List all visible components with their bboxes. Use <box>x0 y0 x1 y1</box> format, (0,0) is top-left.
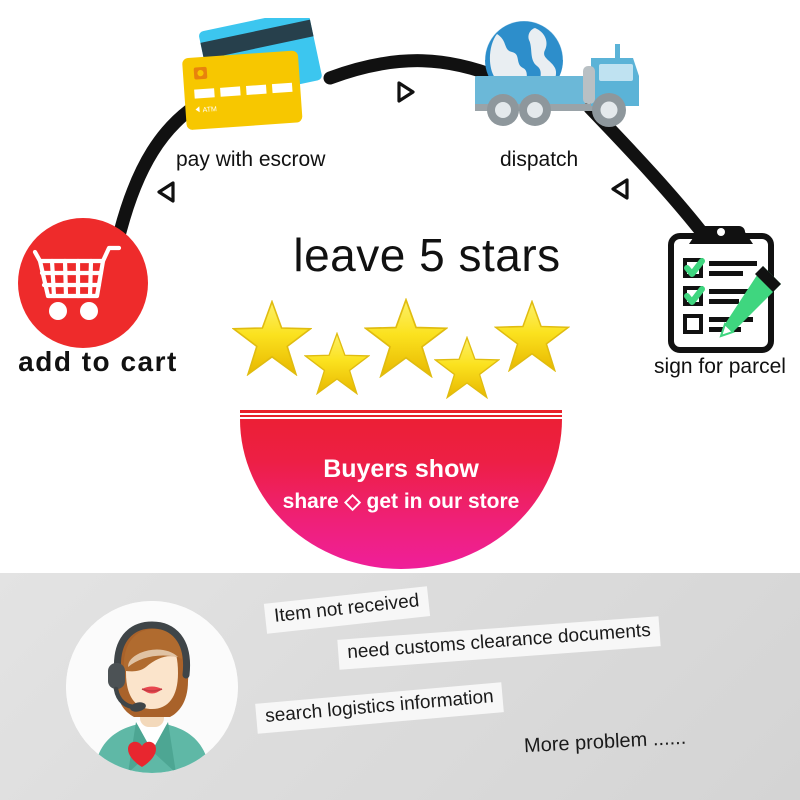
step-sign-for-parcel[interactable] <box>663 222 783 354</box>
step-label-sign-for-parcel: sign for parcel <box>630 355 800 379</box>
star-icon <box>366 300 447 376</box>
star-icon <box>234 302 311 375</box>
star-icon <box>435 337 498 397</box>
problem-tag: Item not received <box>264 586 430 634</box>
triangle-arrow-icon <box>613 180 627 198</box>
banner-accent-line-secondary <box>240 415 562 417</box>
customer-support-section: Item not received need customs clearance… <box>0 573 800 800</box>
problem-tag-more: More problem ...... <box>514 723 696 763</box>
step-label-add-to-cart: add to cart <box>0 346 204 378</box>
step-dispatch[interactable] <box>463 14 653 142</box>
buyers-show-banner: Buyers show share ◇ get in our store <box>240 407 562 569</box>
rating-headline: leave 5 stars <box>262 232 592 278</box>
step-add-to-cart[interactable] <box>18 218 148 348</box>
star-rating-row <box>228 296 572 406</box>
step-label-pay-with-escrow: pay with escrow <box>176 148 325 172</box>
banner-accent-line <box>240 410 562 413</box>
shopping-cart-icon <box>18 218 148 348</box>
triangle-arrow-icon <box>159 183 173 201</box>
clipboard-checklist-pen-icon <box>663 222 783 354</box>
delivery-truck-globe-icon <box>463 14 653 142</box>
order-process-flow: add to cart <box>0 0 800 573</box>
star-icon <box>305 333 368 393</box>
customer-service-agent-avatar <box>66 601 238 773</box>
step-label-dispatch: dispatch <box>500 148 578 172</box>
banner-subtitle: share ◇ get in our store <box>240 489 562 514</box>
banner-title: Buyers show <box>240 455 562 484</box>
step-pay-with-escrow[interactable]: ATM <box>176 18 346 136</box>
triangle-arrow-icon <box>399 83 413 101</box>
star-icon <box>496 302 569 371</box>
problem-tag: need customs clearance documents <box>337 616 661 670</box>
promo-banner-graphic: add to cart <box>0 0 800 800</box>
chip-icon <box>194 67 208 80</box>
svg-text:ATM: ATM <box>202 106 217 114</box>
credit-cards-icon: ATM <box>176 18 346 136</box>
banner-bowl-shape: Buyers show share ◇ get in our store <box>240 419 562 569</box>
cart-circle-badge <box>18 218 148 348</box>
problem-tag: search logistics information <box>255 682 504 733</box>
